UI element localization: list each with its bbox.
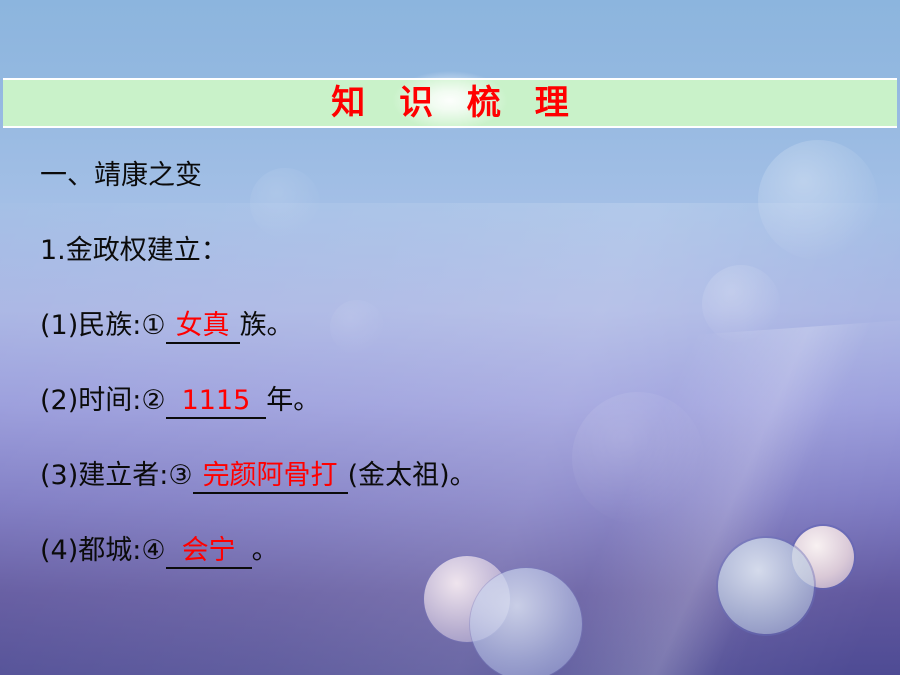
fill-in-item-1: (1)民族:①女真族。 xyxy=(40,312,870,387)
item-suffix: (金太祖)。 xyxy=(348,460,477,491)
item-label: (3)建立者: xyxy=(40,460,168,491)
item-marker: ① xyxy=(141,312,165,339)
fill-in-item-3: (3)建立者:③完颜阿骨打(金太祖)。 xyxy=(40,462,870,537)
item-marker: ③ xyxy=(168,462,192,489)
item-suffix: 族。 xyxy=(240,310,294,341)
item-answer-blank[interactable]: 女真 xyxy=(166,312,240,344)
item-suffix: 。 xyxy=(252,535,279,566)
item-marker: ② xyxy=(141,387,165,414)
title-banner: 知 识 梳 理 xyxy=(3,78,897,128)
item-answer-blank[interactable]: 会宁 xyxy=(166,537,252,569)
page-title: 知 识 梳 理 xyxy=(320,86,580,120)
fill-in-item-2: (2)时间:②1115年。 xyxy=(40,387,870,462)
subsection-heading: 1.金政权建立： xyxy=(40,237,870,312)
presentation-slide: 知 识 梳 理 一、靖康之变 1.金政权建立： (1)民族:①女真族。 (2)时… xyxy=(0,0,900,675)
section-heading: 一、靖康之变 xyxy=(40,162,870,237)
item-suffix: 年。 xyxy=(266,385,320,416)
item-answer-blank[interactable]: 1115 xyxy=(166,387,267,419)
item-answer-blank[interactable]: 完颜阿骨打 xyxy=(193,462,348,494)
item-label: (1)民族: xyxy=(40,310,141,341)
item-marker: ④ xyxy=(141,537,165,564)
item-label: (4)都城: xyxy=(40,535,141,566)
item-label: (2)时间: xyxy=(40,385,141,416)
slide-body: 一、靖康之变 1.金政权建立： (1)民族:①女真族。 (2)时间:②1115年… xyxy=(40,162,870,612)
fill-in-item-4: (4)都城:④会宁。 xyxy=(40,537,870,612)
